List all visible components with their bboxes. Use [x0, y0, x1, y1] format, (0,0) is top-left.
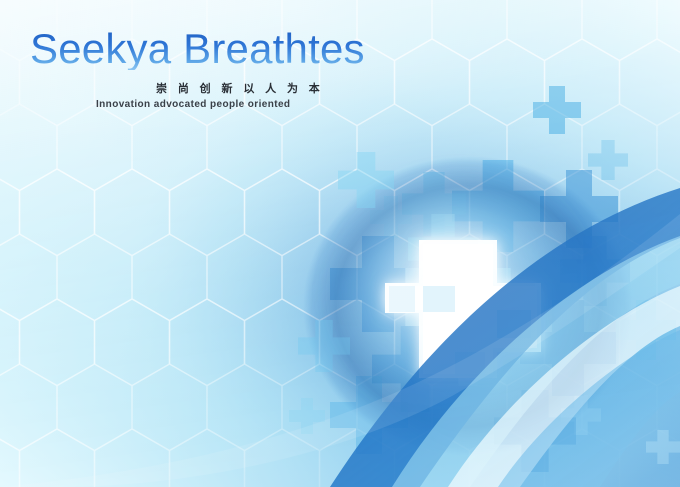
sheen-overlay	[0, 0, 680, 487]
poster-canvas: Seekya Breathtes 崇 尚 创 新 以 人 为 本 Innovat…	[0, 0, 680, 487]
